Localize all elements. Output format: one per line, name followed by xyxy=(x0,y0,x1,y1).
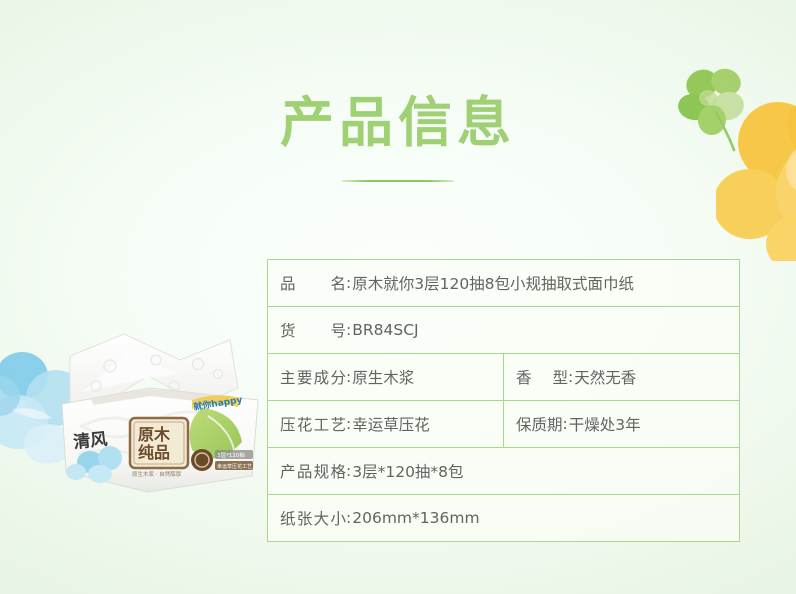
spec-cell-main-ingredient: 主要成分 : 原生木浆 xyxy=(268,354,504,401)
package-label-line1: 原木 xyxy=(138,425,171,444)
spec-colon: : xyxy=(346,368,351,386)
table-row: 货 号 : BR84SCJ xyxy=(268,307,740,354)
table-row: 品 名 : 原木就你3层120抽8包小规抽取式面巾纸 xyxy=(268,260,740,307)
spec-value: 3层*120抽*8包 xyxy=(352,460,739,482)
spec-colon: : xyxy=(346,462,351,480)
spec-value: 206mm*136mm xyxy=(352,509,739,527)
spec-cell-shelf-life: 保质期 : 干燥处3年 xyxy=(504,401,740,448)
spec-colon: : xyxy=(346,415,351,433)
table-row: 纸张大小 : 206mm*136mm xyxy=(268,495,740,542)
title-divider xyxy=(342,180,454,182)
spec-value: BR84SCJ xyxy=(352,321,739,339)
page-title: 产品信息 xyxy=(0,96,796,150)
spec-cell-product-name: 品 名 : 原木就你3层120抽8包小规抽取式面巾纸 xyxy=(268,260,740,307)
spec-label: 品 名 xyxy=(280,272,346,294)
spec-label: 保质期 xyxy=(516,413,563,435)
product-info-page: 产品信息 xyxy=(0,0,796,594)
spec-cell-embossing: 压花工艺 : 幸运草压花 xyxy=(268,401,504,448)
spec-label: 纸张大小 xyxy=(280,507,346,529)
spec-label: 货 号 xyxy=(280,319,346,341)
spec-value: 干燥处3年 xyxy=(569,413,739,435)
spec-colon: : xyxy=(346,274,351,292)
table-row: 压花工艺 : 幸运草压花 保质期 : 干燥处3年 xyxy=(268,401,740,448)
product-spec-table: 品 名 : 原木就你3层120抽8包小规抽取式面巾纸 货 号 : BR84SCJ xyxy=(267,259,740,542)
package-label-line2: 纯品 xyxy=(138,443,170,462)
package-badge-sub: 幸运草压花工艺 xyxy=(217,463,252,470)
spec-label: 主要成分 xyxy=(280,366,346,388)
spec-colon: : xyxy=(563,415,568,433)
spec-value: 天然无香 xyxy=(574,366,739,388)
spec-colon: : xyxy=(346,321,351,339)
page-header: 产品信息 xyxy=(0,96,796,182)
spec-cell-sheet-size: 纸张大小 : 206mm*136mm xyxy=(268,495,740,542)
spec-label: 产品规格 xyxy=(280,460,346,482)
spec-cell-item-number: 货 号 : BR84SCJ xyxy=(268,307,740,354)
spec-cell-product-spec: 产品规格 : 3层*120抽*8包 xyxy=(268,448,740,495)
spec-value: 原生木浆 xyxy=(352,366,503,388)
table-row: 主要成分 : 原生木浆 香 型 : 天然无香 xyxy=(268,354,740,401)
product-package-image: 清风 原木 纯品 原生木浆 · 自然醇厚 就你happy 3层*120抽 幸运草… xyxy=(52,330,266,508)
package-label-sub: 原生木浆 · 自然醇厚 xyxy=(132,470,182,478)
spec-value: 原木就你3层120抽8包小规抽取式面巾纸 xyxy=(352,272,739,294)
spec-colon: : xyxy=(346,509,351,527)
spec-value: 幸运草压花 xyxy=(352,413,503,435)
spec-label: 压花工艺 xyxy=(280,413,346,435)
table-row: 产品规格 : 3层*120抽*8包 xyxy=(268,448,740,495)
package-badge-spec: 3层*120抽 xyxy=(217,451,245,459)
spec-cell-scent-type: 香 型 : 天然无香 xyxy=(504,354,740,401)
spec-label: 香 型 xyxy=(516,366,568,388)
spec-table-body: 品 名 : 原木就你3层120抽8包小规抽取式面巾纸 货 号 : BR84SCJ xyxy=(268,260,740,542)
package-brand-logo: 清风 xyxy=(72,429,108,453)
spec-colon: : xyxy=(568,368,573,386)
